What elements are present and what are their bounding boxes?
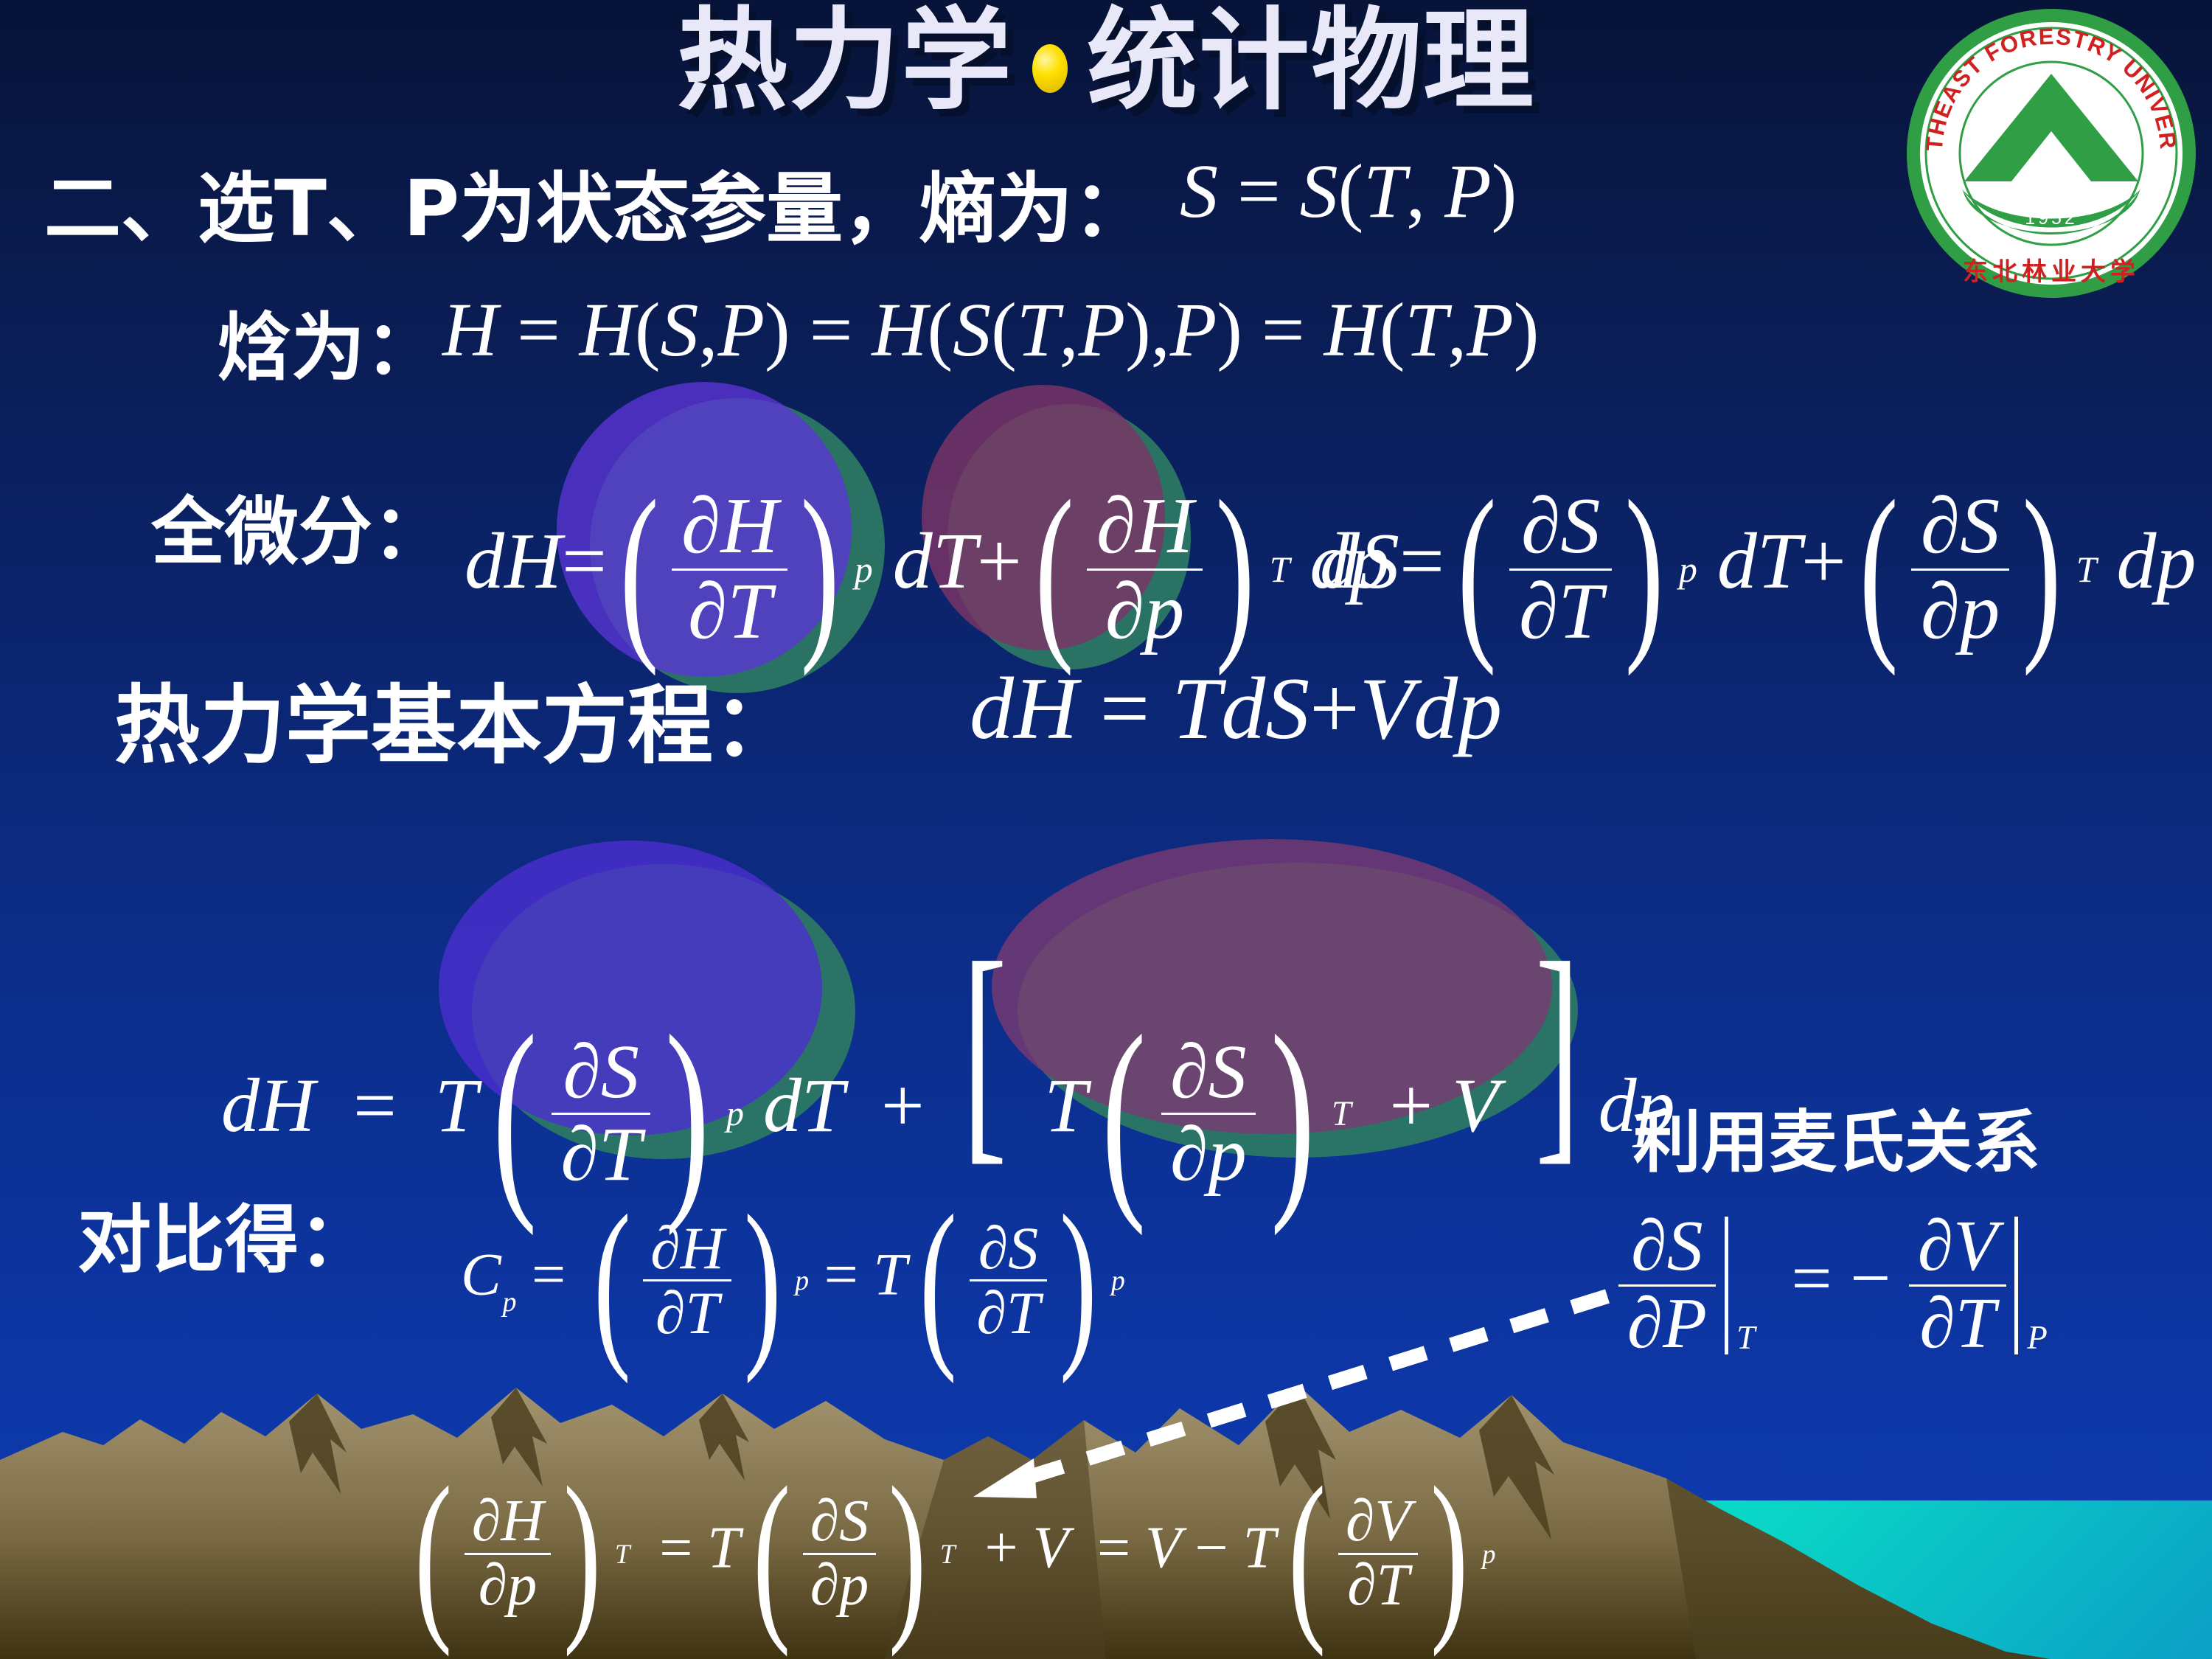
maxwell-relation-label: 利用麦氏关系 [1633, 1088, 2040, 1186]
enthalpy-formula: H = H(S,P) = H(S(T,P),P) = H(T,P) [442, 286, 1539, 374]
heading-label: 二、选T、P为状态参量，熵为： [44, 146, 1150, 257]
gold-ellipse-bullet-icon [1032, 44, 1068, 93]
fundamental-equation-label: 热力学基本方程： [114, 656, 799, 780]
result-formula: (∂H∂p)T = T(∂S∂p)T + V = V − T(∂V∂T)p [402, 1445, 1495, 1659]
enthalpy-label: 焓为： [218, 288, 439, 394]
total-differential-label: 全微分： [151, 472, 446, 579]
dH-differential-formula: dH=(∂H∂T)p dT+(∂H∂p)T dp [465, 457, 1389, 681]
university-seal-logo: NORTHEAST FORESTRY UNIVERSITY 1952 东北林业大… [1904, 6, 2199, 301]
seal-year: 1952 [2025, 208, 2078, 229]
slide-canvas: 热力学统计物理 NORTHEAST FORESTRY UNIVERSITY 19… [0, 0, 2212, 1659]
title-text-primary: 热力学 [677, 0, 1013, 125]
fundamental-equation-formula: dH = TdS+Vdp [970, 658, 1502, 759]
dS-differential-formula: dS=(∂S∂T)p dT+(∂S∂p)T dp [1320, 457, 2196, 681]
heading-formula: S = S(T, P) [1180, 147, 1517, 235]
title-text-secondary: 统计物理 [1087, 0, 1535, 125]
seal-chinese-name: 东北林业大学 [1963, 257, 2140, 287]
maxwell-relation-formula: ∂S∂PT = − ∂V∂TP [1618, 1209, 2048, 1362]
compare-label: 对比得： [77, 1180, 372, 1287]
page-title: 热力学统计物理 [0, 0, 2212, 129]
